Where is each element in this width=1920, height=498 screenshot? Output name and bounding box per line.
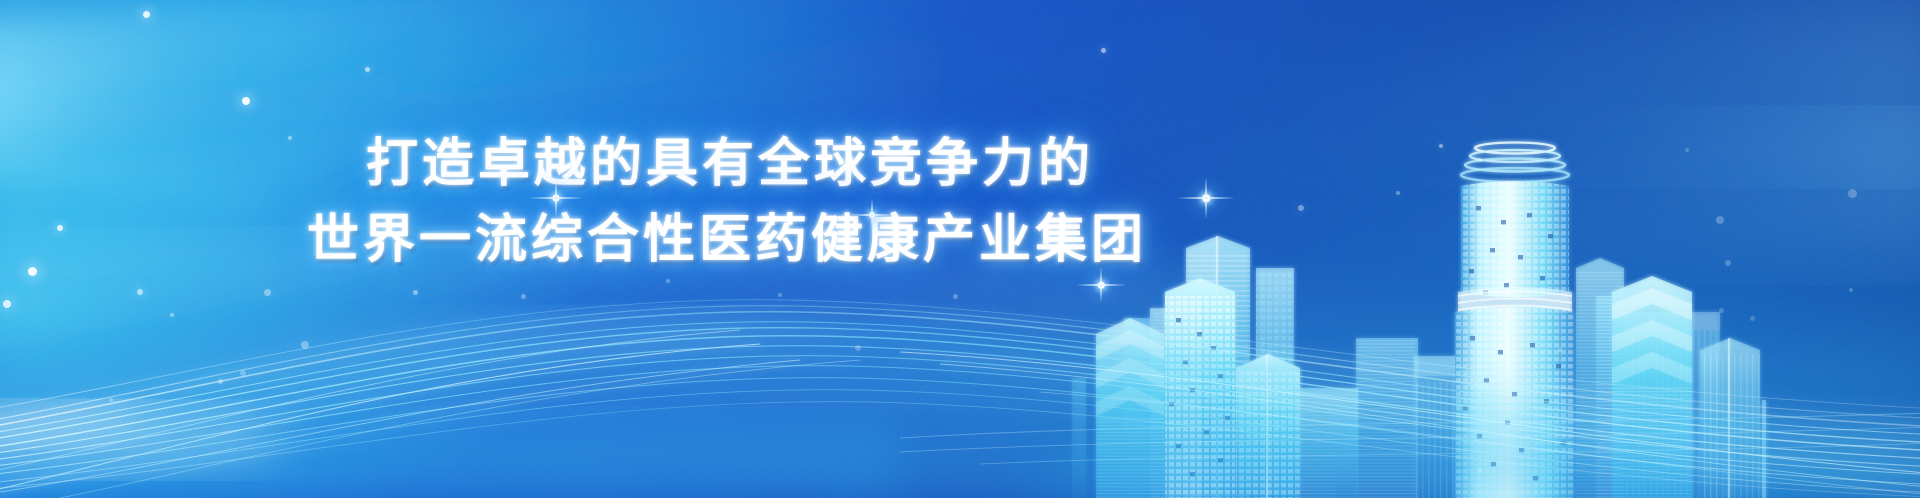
hero-banner: 打造卓越的具有全球竞争力的 世界一流综合性医药健康产业集团 [0,0,1920,498]
text-sparkles [0,0,1920,498]
sparkle-star-icon [529,171,583,225]
sparkle-star-icon [1177,169,1235,227]
sparkle-star-icon [1076,260,1126,310]
sparkle-star-icon [849,192,895,238]
